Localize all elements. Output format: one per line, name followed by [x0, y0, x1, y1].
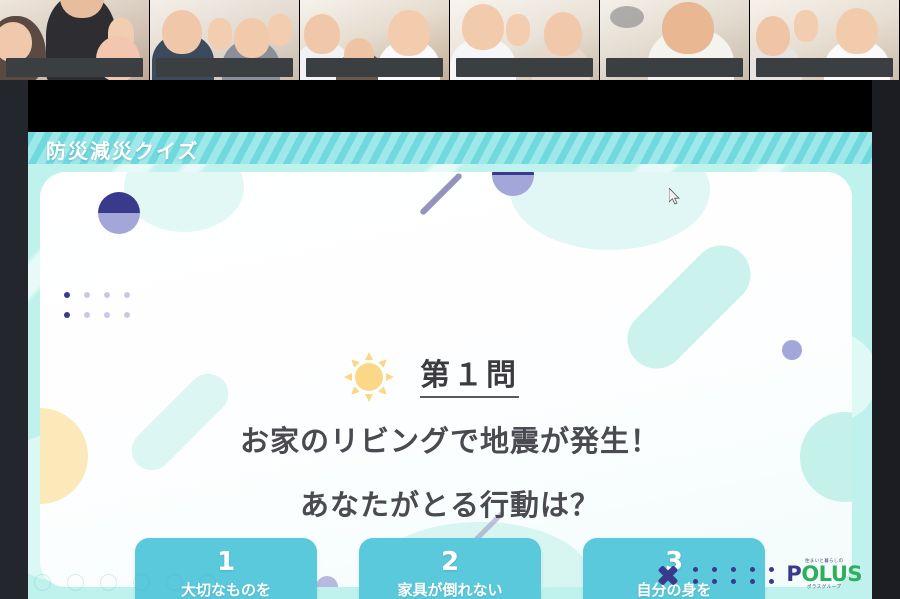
polus-logo-subtext: ポラスグループ: [786, 586, 862, 591]
banner-title: 防災減災クイズ: [46, 135, 199, 164]
slide-footer: 住まいと暮らしの POLUS ポラスグループ: [28, 557, 872, 593]
polus-logo: 住まいと暮らしの POLUS ポラスグループ: [786, 560, 862, 591]
participant-tile-1[interactable]: [0, 0, 150, 80]
letterbox-left: [0, 80, 28, 599]
participant-name-bar-3: [306, 58, 443, 77]
question-line-1: お家のリビングで地震が発生！: [28, 418, 872, 460]
sun-icon: [346, 354, 392, 400]
participant-tile-5[interactable]: [600, 0, 750, 80]
deco-half-circle-top: [492, 172, 534, 196]
question-line-2: あなたがとる行動は？: [28, 482, 872, 524]
polus-logo-initial: P: [786, 562, 801, 586]
deco-dot-grid: [64, 292, 130, 318]
participant-name-bar-6: [756, 58, 893, 77]
participant-tile-3[interactable]: [300, 0, 450, 80]
question-number-wrap: 第１問: [420, 350, 519, 398]
polus-logo-rest: OLUS: [801, 562, 862, 586]
question-number: 第１問: [420, 350, 519, 398]
deco-dot-lavender-right: [782, 340, 802, 360]
participant-name-bar-2: [156, 58, 293, 77]
mouse-cursor: [669, 188, 681, 206]
x-mark-icon: [657, 564, 679, 586]
participant-tile-2[interactable]: [150, 0, 300, 80]
shared-slide: 防災減災クイズ: [28, 132, 872, 599]
letterbox-top: [0, 80, 900, 132]
screen-root: 防災減災クイズ: [0, 0, 900, 599]
video-participant-filmstrip: [0, 0, 900, 80]
slide-banner: 防災減災クイズ: [28, 132, 872, 164]
participant-name-bar-5: [606, 58, 743, 77]
footer-dot-pattern: [693, 567, 774, 584]
letterbox-right: [872, 80, 900, 599]
deco-half-circle: [98, 192, 140, 234]
polus-logo-wordmark: POLUS: [786, 564, 862, 585]
participant-name-bar-4: [456, 58, 593, 77]
participant-tile-4[interactable]: [450, 0, 600, 80]
participant-name-bar-1: [6, 58, 143, 77]
participant-tile-6[interactable]: [750, 0, 900, 80]
